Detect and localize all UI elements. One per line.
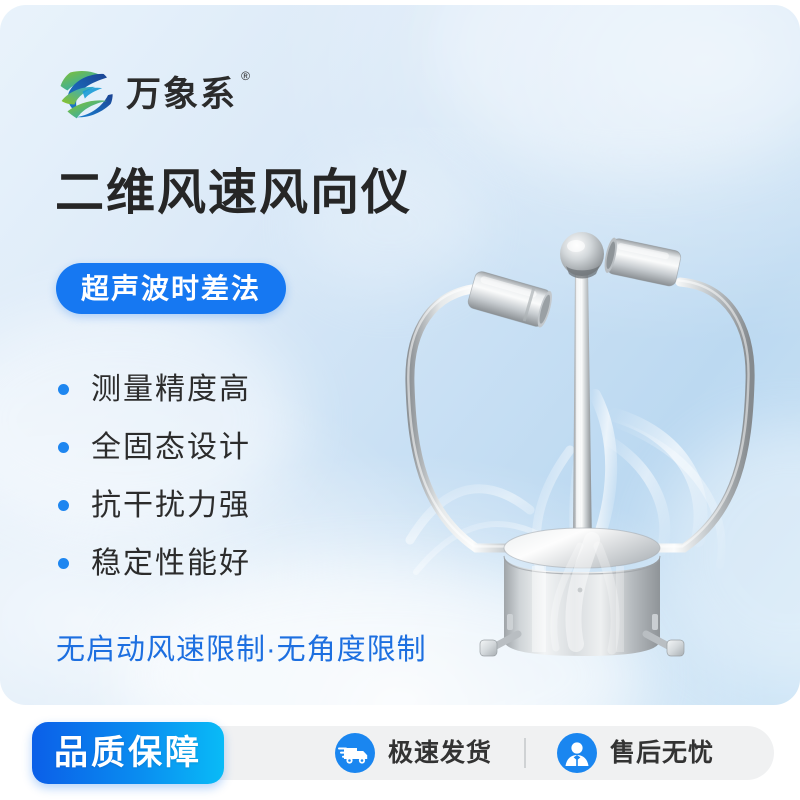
globe-swirl-logo-icon: [57, 65, 115, 123]
list-item: 抗干扰力强: [58, 478, 251, 533]
feature-list: 测量精度高 全固态设计 抗干扰力强 稳定性能好: [58, 362, 251, 594]
transducer-head: [467, 270, 555, 329]
registered-trademark-icon: ®: [241, 70, 252, 82]
product-promo-page: 万象系 ® 二维风速风向仪 超声波时差法 测量精度高 全固态设计 抗干扰力强: [0, 0, 800, 800]
list-item: 稳定性能好: [58, 536, 251, 591]
trust-item-after-sales: 售后无忧: [557, 722, 714, 784]
product-image: [380, 210, 780, 670]
bullet-dot-icon: [58, 558, 69, 569]
trust-bar: 品质保障 极速发货: [0, 722, 800, 784]
quality-guarantee-badge: 品质保障: [32, 722, 224, 784]
trust-item-label: 极速发货: [388, 741, 492, 766]
customer-service-icon: [557, 733, 597, 773]
quality-guarantee-label: 品质保障: [54, 736, 202, 770]
transducer-head: [602, 237, 682, 288]
list-item: 全固态设计: [58, 420, 251, 475]
page-title: 二维风速风向仪: [55, 166, 412, 221]
list-item: 测量精度高: [58, 362, 251, 417]
brand-logo: 万象系 ®: [57, 65, 237, 123]
trust-bar-divider: [524, 738, 526, 768]
tagline: 无启动风速限制·无角度限制: [56, 636, 427, 665]
cloud-blob: [430, 5, 800, 175]
brand-name-text: 万象系: [126, 75, 237, 114]
delivery-truck-icon: [335, 733, 375, 773]
bullet-dot-icon: [58, 500, 69, 511]
feature-label: 测量精度高: [91, 375, 251, 405]
hero-card: 万象系 ® 二维风速风向仪 超声波时差法 测量精度高 全固态设计 抗干扰力强: [0, 5, 800, 705]
technology-badge: 超声波时差法: [56, 263, 286, 314]
right-transducer-arm: [602, 237, 750, 548]
feature-label: 抗干扰力强: [91, 491, 251, 521]
trust-item-label: 售后无忧: [610, 741, 714, 766]
bullet-dot-icon: [58, 384, 69, 395]
bullet-dot-icon: [58, 442, 69, 453]
brand-name: 万象系 ®: [126, 77, 237, 112]
trust-item-fast-shipping: 极速发货: [335, 722, 492, 784]
technology-badge-label: 超声波时差法: [81, 275, 261, 303]
feature-label: 全固态设计: [91, 433, 251, 463]
feature-label: 稳定性能好: [91, 549, 251, 579]
